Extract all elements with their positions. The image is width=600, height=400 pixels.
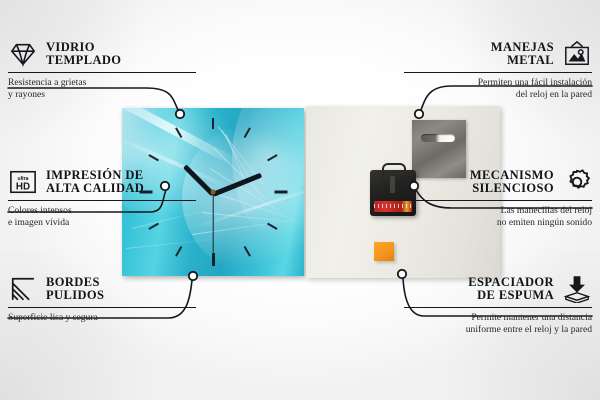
callout-description: Permite mantener una distancia uniforme … <box>404 312 592 336</box>
callout-divider <box>404 200 592 201</box>
callout-description: Superficie lisa y segura <box>8 312 196 324</box>
wall-hanging-picture-icon <box>562 40 592 68</box>
mechanism-shaft <box>390 176 395 193</box>
gear-icon <box>562 168 592 196</box>
callout-divider <box>404 307 592 308</box>
callout-description: Colores intensos e imagen vívida <box>8 205 196 229</box>
polished-edges-icon <box>8 275 38 303</box>
callout-divider <box>8 307 196 308</box>
ultra-hd-icon: ultra HD <box>8 168 38 196</box>
callout-header: ultra HD IMPRESIÓN DE ALTA CALIDAD <box>8 168 196 196</box>
clock-second-hand <box>212 193 213 253</box>
mechanism-hanging-loop <box>382 163 406 175</box>
callout-description: Las manecillas del reloj no emiten ningú… <box>404 205 592 229</box>
callout-header: MECANISMO SILENCIOSO <box>404 168 592 196</box>
callout-manejas-metal[interactable]: MANEJAS METAL Permiten una fácil instala… <box>404 40 592 101</box>
callout-impresion-alta-calidad[interactable]: ultra HD IMPRESIÓN DE ALTA CALIDAD Color… <box>8 168 196 229</box>
hanger-keyhole-slot <box>421 134 455 142</box>
callout-divider <box>8 200 196 201</box>
diamond-icon <box>8 40 38 68</box>
callout-title: ESPACIADOR DE ESPUMA <box>468 276 554 303</box>
callout-header: VIDRIO TEMPLADO <box>8 40 196 68</box>
callout-description: Permiten una fácil instalación del reloj… <box>404 77 592 101</box>
svg-text:HD: HD <box>16 181 30 192</box>
clock-center-pivot <box>211 190 216 195</box>
callout-mecanismo-silencioso[interactable]: MECANISMO SILENCIOSO Las manecillas del … <box>404 168 592 229</box>
callout-header: ESPACIADOR DE ESPUMA <box>404 275 592 303</box>
callout-header: MANEJAS METAL <box>404 40 592 68</box>
callout-title: IMPRESIÓN DE ALTA CALIDAD <box>46 169 144 196</box>
callout-divider <box>404 72 592 73</box>
callout-title: VIDRIO TEMPLADO <box>46 41 121 68</box>
foam-spacer-pad <box>374 242 394 261</box>
callout-header: BORDES PULIDOS <box>8 275 196 303</box>
callout-title: MANEJAS METAL <box>491 41 554 68</box>
infographic-canvas: VIDRIO TEMPLADO Resistencia a grietas y … <box>0 0 600 400</box>
callout-title: MECANISMO SILENCIOSO <box>470 169 554 196</box>
callout-title: BORDES PULIDOS <box>46 276 104 303</box>
callout-description: Resistencia a grietas y rayones <box>8 77 196 101</box>
foam-spacer-arrow-icon <box>562 275 592 303</box>
callout-espaciador-de-espuma[interactable]: ESPACIADOR DE ESPUMA Permite mantener un… <box>404 275 592 336</box>
callout-divider <box>8 72 196 73</box>
callout-bordes-pulidos[interactable]: BORDES PULIDOS Superficie lisa y segura <box>8 275 196 324</box>
callout-vidrio-templado[interactable]: VIDRIO TEMPLADO Resistencia a grietas y … <box>8 40 196 101</box>
